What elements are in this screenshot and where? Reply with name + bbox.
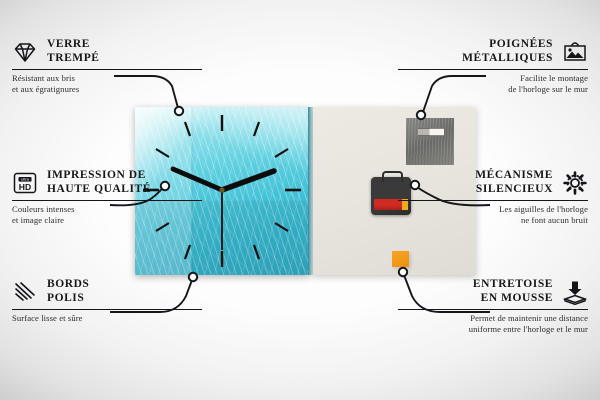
callout-sub-line2: ne font aucun bruit <box>398 215 588 226</box>
callout-sub-line2: de l'horloge sur le mur <box>398 84 588 95</box>
callout-rule <box>12 200 202 201</box>
callout-header: BORDS POLIS <box>12 278 202 305</box>
diamond-icon <box>12 39 38 65</box>
callout-sub-line1: Facilite le montage <box>398 73 588 84</box>
callout-sub-line1: Couleurs intenses <box>12 204 202 215</box>
ultra-hd-icon: ultra HD <box>12 170 38 196</box>
callout-rule <box>398 309 588 310</box>
callout-rule <box>398 69 588 70</box>
callout-header: ENTRETOISE EN MOUSSE <box>398 278 588 305</box>
infographic-canvas: VERRE TREMPÉ Résistant aux bris et aux é… <box>0 0 600 400</box>
svg-text:ultra: ultra <box>21 176 30 181</box>
callout-title: BORDS POLIS <box>47 278 89 305</box>
callout-sub-line2: uniforme entre l'horloge et le mur <box>398 324 588 335</box>
callout-rule <box>12 69 202 70</box>
callout-mecanisme-silencieux: MÉCANISME SILENCIEUX Les aiguilles de l'… <box>398 169 588 226</box>
gear-icon <box>562 170 588 196</box>
callout-bords-polis: BORDS POLIS Surface lisse et sûre <box>12 278 202 324</box>
picture-hanger-icon <box>562 39 588 65</box>
callout-title: MÉCANISME SILENCIEUX <box>475 169 553 196</box>
callout-sub-line1: Les aiguilles de l'horloge <box>398 204 588 215</box>
polished-edge-icon <box>12 279 38 305</box>
callout-title: POIGNÉES MÉTALLIQUES <box>462 38 553 65</box>
dot-poignees <box>417 111 425 119</box>
callout-title: IMPRESSION DE HAUTE QUALITÉ <box>47 169 151 196</box>
callout-sub-line1: Surface lisse et sûre <box>12 313 202 324</box>
callout-poignees-metalliques: POIGNÉES MÉTALLIQUES Facilite le montage… <box>398 38 588 95</box>
callout-rule <box>12 309 202 310</box>
callout-title: VERRE TREMPÉ <box>47 38 100 65</box>
callout-sub-line1: Résistant aux bris <box>12 73 202 84</box>
dot-entretoise <box>399 268 407 276</box>
callout-verre-trempe: VERRE TREMPÉ Résistant aux bris et aux é… <box>12 38 202 95</box>
callout-sub-line1: Permet de maintenir une distance <box>398 313 588 324</box>
callout-sub-line2: et image claire <box>12 215 202 226</box>
dot-verre-trempe <box>175 107 183 115</box>
foam-spacer-icon <box>562 279 588 305</box>
callout-title: ENTRETOISE EN MOUSSE <box>473 278 553 305</box>
svg-text:HD: HD <box>19 182 31 192</box>
callout-impression-haute-qualite: ultra HD IMPRESSION DE HAUTE QUALITÉ Cou… <box>12 169 202 226</box>
callout-sub-line2: et aux égratignures <box>12 84 202 95</box>
callout-rule <box>398 200 588 201</box>
callout-header: POIGNÉES MÉTALLIQUES <box>398 38 588 65</box>
callout-entretoise-en-mousse: ENTRETOISE EN MOUSSE Permet de maintenir… <box>398 278 588 335</box>
callout-header: ultra HD IMPRESSION DE HAUTE QUALITÉ <box>12 169 202 196</box>
callout-header: VERRE TREMPÉ <box>12 38 202 65</box>
callout-header: MÉCANISME SILENCIEUX <box>398 169 588 196</box>
